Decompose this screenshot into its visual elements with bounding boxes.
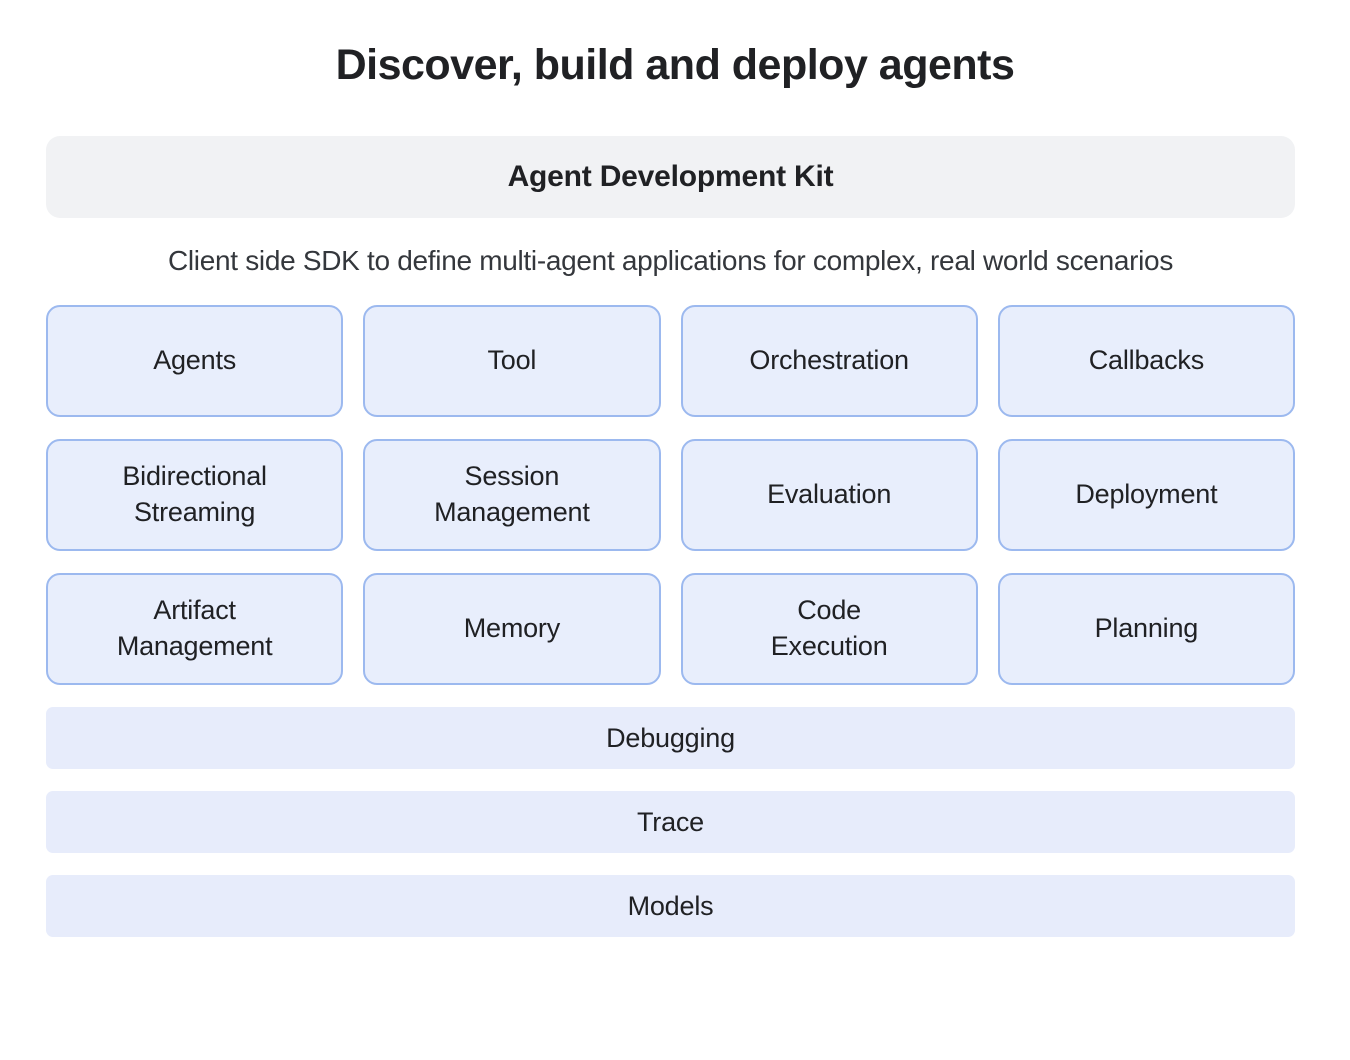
foundation-bar-models: Models xyxy=(46,875,1295,937)
foundation-bars: Debugging Trace Models xyxy=(46,707,1295,937)
capability-card-label: Deployment xyxy=(1067,477,1225,513)
page-title: Discover, build and deploy agents xyxy=(0,0,1350,90)
capability-card-callbacks: Callbacks xyxy=(998,305,1295,417)
agent-development-kit-header: Agent Development Kit xyxy=(46,136,1295,218)
foundation-bar-label: Debugging xyxy=(606,723,735,754)
diagram-page: Discover, build and deploy agents Agent … xyxy=(0,0,1350,1060)
foundation-bar-label: Models xyxy=(628,891,714,922)
capability-card-label: Artifact Management xyxy=(109,593,281,665)
agent-development-kit-title: Agent Development Kit xyxy=(508,160,834,194)
capability-card-memory: Memory xyxy=(363,573,660,685)
capability-card-deployment: Deployment xyxy=(998,439,1295,551)
capability-card-code-execution: Code Execution xyxy=(681,573,978,685)
capability-card-evaluation: Evaluation xyxy=(681,439,978,551)
capability-card-bidirectional-streaming: Bidirectional Streaming xyxy=(46,439,343,551)
capability-card-planning: Planning xyxy=(998,573,1295,685)
capability-card-label: Callbacks xyxy=(1081,343,1212,379)
capability-card-grid: Agents Tool Orchestration Callbacks Bidi… xyxy=(46,305,1295,685)
agent-development-kit-subtitle: Client side SDK to define multi-agent ap… xyxy=(46,218,1295,277)
foundation-bar-label: Trace xyxy=(637,807,704,838)
capability-card-label: Memory xyxy=(456,611,568,647)
adk-stack: Agent Development Kit Client side SDK to… xyxy=(46,136,1295,937)
capability-card-tool: Tool xyxy=(363,305,660,417)
capability-card-label: Agents xyxy=(145,343,244,379)
capability-card-label: Bidirectional Streaming xyxy=(114,459,274,531)
capability-card-artifact-management: Artifact Management xyxy=(46,573,343,685)
capability-card-label: Tool xyxy=(480,343,545,379)
capability-card-label: Planning xyxy=(1087,611,1207,647)
capability-card-label: Orchestration xyxy=(741,343,916,379)
capability-card-label: Session Management xyxy=(426,459,598,531)
capability-card-session-management: Session Management xyxy=(363,439,660,551)
foundation-bar-debugging: Debugging xyxy=(46,707,1295,769)
capability-card-label: Evaluation xyxy=(759,477,899,513)
capability-card-label: Code Execution xyxy=(763,593,896,665)
foundation-bar-trace: Trace xyxy=(46,791,1295,853)
capability-card-agents: Agents xyxy=(46,305,343,417)
capability-card-orchestration: Orchestration xyxy=(681,305,978,417)
